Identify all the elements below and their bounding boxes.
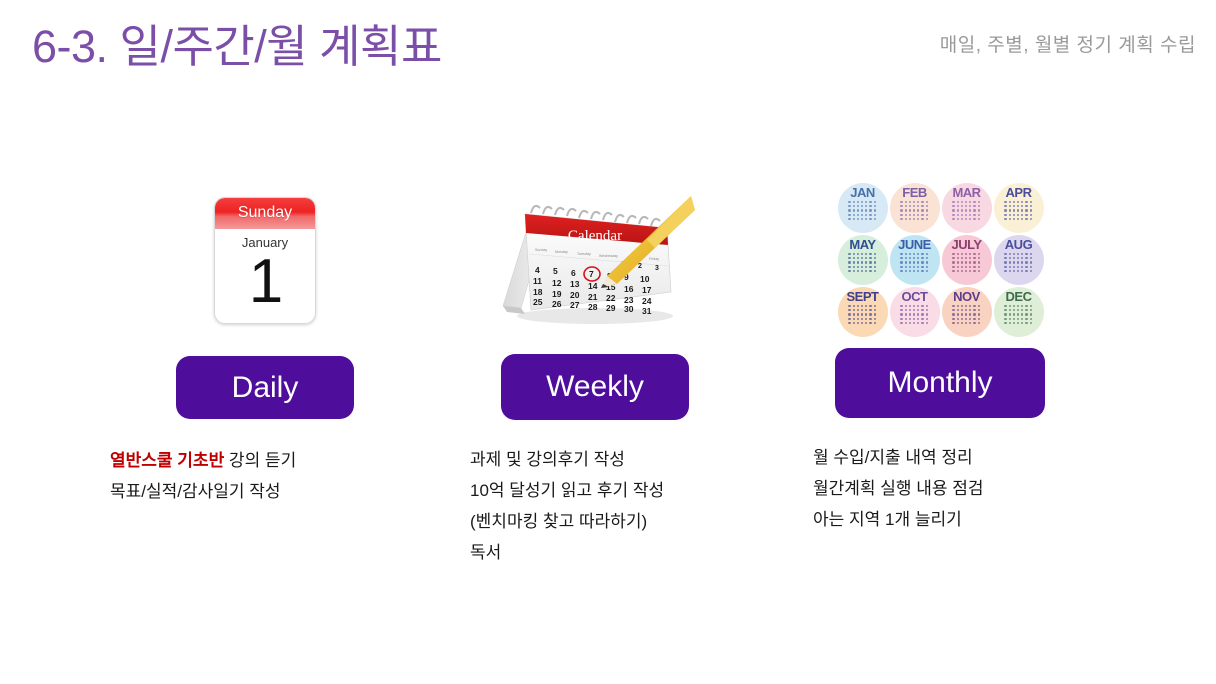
month-day-dots (952, 305, 980, 325)
monthly-button[interactable]: Monthly (835, 348, 1045, 418)
svg-text:7: 7 (589, 269, 594, 279)
svg-text:26: 26 (552, 299, 562, 309)
month-day-dots (1004, 253, 1032, 273)
svg-text:16: 16 (624, 284, 634, 294)
month-circle-feb: FEB (890, 183, 940, 233)
note-text: 10억 달성기 읽고 후기 작성 (470, 481, 664, 500)
weekly-button[interactable]: Weekly (501, 354, 689, 420)
daily-button[interactable]: Daily (176, 356, 354, 419)
plan-columns: Sunday January 1 Daily 열반스쿨 기초반 강의 듣기 목표… (0, 180, 1216, 630)
month-label: APR (1006, 186, 1032, 199)
month-label: JAN (850, 186, 875, 199)
month-day-dots (848, 201, 876, 221)
note-line: 목표/실적/감사일기 작성 (110, 476, 430, 507)
month-circle-may: MAY (838, 235, 888, 285)
day-calendar-daynumber: 1 (215, 251, 315, 313)
month-label: MAY (849, 238, 875, 251)
svg-text:Sunday: Sunday (535, 248, 547, 252)
month-label: FEB (902, 186, 927, 199)
desk-calendar-pencil-icon: Calendar (495, 188, 695, 333)
column-weekly: Calendar (430, 180, 760, 568)
month-label: OCT (902, 290, 928, 303)
note-line: 독서 (470, 537, 760, 568)
note-line: 월간계획 실행 내용 점검 (813, 473, 1105, 504)
page-subtitle: 매일, 주별, 월별 정기 계획 수립 (940, 30, 1196, 57)
svg-text:30: 30 (624, 304, 634, 314)
note-text: 독서 (470, 543, 501, 562)
month-circle-mar: MAR (942, 183, 992, 233)
svg-text:Monday: Monday (555, 250, 568, 254)
note-highlight: 열반스쿨 기초반 (110, 451, 224, 470)
month-day-dots (1004, 305, 1032, 325)
month-label: DEC (1006, 290, 1032, 303)
monthly-notes: 월 수입/지출 내역 정리 월간계획 실행 내용 점검 아는 지역 1개 늘리기 (813, 442, 1105, 535)
svg-text:22: 22 (606, 293, 616, 303)
day-calendar-icon: Sunday January 1 (214, 197, 316, 324)
day-calendar-weekday: Sunday (215, 198, 315, 229)
svg-text:14: 14 (588, 281, 598, 291)
page-title: 6-3. 일/주간/월 계획표 (32, 10, 442, 75)
note-text: 월 수입/지출 내역 정리 (813, 448, 973, 467)
month-circle-apr: APR (994, 183, 1044, 233)
month-label: JUNE (898, 238, 931, 251)
month-day-dots (1004, 201, 1032, 221)
svg-text:5: 5 (553, 266, 558, 276)
month-label: AUG (1005, 238, 1032, 251)
month-circle-aug: AUG (994, 235, 1044, 285)
note-text: 아는 지역 1개 늘리기 (813, 510, 962, 529)
month-day-dots (848, 305, 876, 325)
svg-text:Tuesday: Tuesday (577, 252, 591, 256)
svg-text:13: 13 (570, 279, 580, 289)
note-line: 아는 지역 1개 늘리기 (813, 504, 1105, 535)
desk-calendar-title: Calendar (568, 228, 622, 244)
note-line: 월 수입/지출 내역 정리 (813, 442, 1105, 473)
note-text: 목표/실적/감사일기 작성 (110, 482, 281, 501)
month-circle-june: JUNE (890, 235, 940, 285)
month-day-dots (952, 201, 980, 221)
month-day-dots (900, 253, 928, 273)
svg-text:4: 4 (535, 265, 540, 275)
column-daily: Sunday January 1 Daily 열반스쿨 기초반 강의 듣기 목표… (100, 180, 430, 507)
month-label: SEPT (847, 290, 879, 303)
month-day-dots (900, 305, 928, 325)
svg-text:12: 12 (552, 278, 562, 288)
daily-icon-wrap: Sunday January 1 (100, 180, 430, 340)
month-label: MAR (952, 186, 980, 199)
daily-notes: 열반스쿨 기초반 강의 듣기 목표/실적/감사일기 작성 (110, 445, 430, 507)
column-monthly: JANFEBMARAPRMAYJUNEJULYAUGSEPTOCTNOVDEC … (775, 180, 1105, 535)
svg-text:11: 11 (533, 276, 542, 286)
svg-text:Friday: Friday (649, 257, 659, 261)
note-text: 강의 듣기 (224, 451, 296, 470)
note-text: 월간계획 실행 내용 점검 (813, 479, 984, 498)
weekly-notes: 과제 및 강의후기 작성 10억 달성기 읽고 후기 작성 (벤치마킹 찾고 따… (470, 444, 760, 568)
svg-text:24: 24 (642, 296, 652, 306)
svg-text:6: 6 (571, 268, 576, 278)
month-label: NOV (953, 290, 980, 303)
svg-text:27: 27 (570, 300, 580, 310)
month-circle-sept: SEPT (838, 287, 888, 337)
note-line: 과제 및 강의후기 작성 (470, 444, 760, 475)
svg-text:2: 2 (638, 263, 642, 270)
month-day-dots (952, 253, 980, 273)
month-circle-jan: JAN (838, 183, 888, 233)
weekly-icon-wrap: Calendar (430, 180, 760, 340)
note-text: (벤치마킹 찾고 따라하기) (470, 512, 647, 531)
year-months-circles-icon: JANFEBMARAPRMAYJUNEJULYAUGSEPTOCTNOVDEC (838, 183, 1043, 337)
note-line: (벤치마킹 찾고 따라하기) (470, 506, 760, 537)
svg-text:17: 17 (642, 285, 652, 295)
svg-text:20: 20 (570, 290, 580, 300)
svg-text:3: 3 (655, 265, 659, 272)
svg-text:19: 19 (552, 289, 562, 299)
month-circle-july: JULY (942, 235, 992, 285)
svg-text:25: 25 (533, 297, 543, 307)
month-circle-nov: NOV (942, 287, 992, 337)
desk-calendar-svg: Calendar (495, 188, 695, 333)
svg-text:29: 29 (606, 303, 616, 313)
monthly-icon-wrap: JANFEBMARAPRMAYJUNEJULYAUGSEPTOCTNOVDEC (775, 180, 1105, 340)
note-text: 과제 및 강의후기 작성 (470, 450, 625, 469)
note-line: 10억 달성기 읽고 후기 작성 (470, 475, 760, 506)
note-line: 열반스쿨 기초반 강의 듣기 (110, 445, 430, 476)
month-day-dots (900, 201, 928, 221)
svg-text:18: 18 (533, 287, 543, 297)
svg-text:10: 10 (640, 274, 650, 284)
svg-text:31: 31 (642, 306, 652, 316)
month-circle-dec: DEC (994, 287, 1044, 337)
month-label: JULY (951, 238, 981, 251)
svg-text:28: 28 (588, 302, 598, 312)
month-day-dots (848, 253, 876, 273)
svg-text:Wednesday: Wednesday (599, 254, 618, 258)
month-circle-oct: OCT (890, 287, 940, 337)
svg-text:21: 21 (588, 292, 598, 302)
